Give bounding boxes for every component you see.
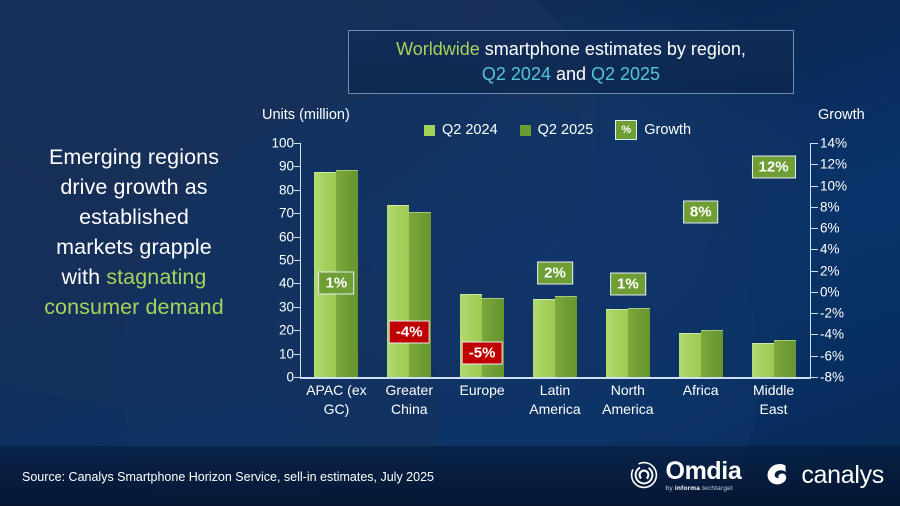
headline-line-5: with stagnating <box>8 262 260 292</box>
y2-axis-tick <box>811 292 818 293</box>
headline-line-1: Emerging regions <box>8 142 260 172</box>
bar-pair <box>519 143 592 377</box>
y2-axis-title: Growth <box>818 107 865 123</box>
x-axis-category-line: East <box>737 400 810 419</box>
growth-badge: -5% <box>462 342 503 365</box>
legend-label-growth: Growth <box>644 122 691 138</box>
legend-item-q2-2024: Q2 2024 <box>424 122 498 138</box>
bar-2024[interactable] <box>460 294 482 377</box>
chart-title-row-2: Q2 2024 and Q2 2025 <box>482 62 660 87</box>
y2-axis-tick-label: 14% <box>820 136 847 151</box>
growth-badge: 1% <box>319 272 355 295</box>
y2-axis-tick <box>811 356 818 357</box>
headline-line-4: markets grapple <box>8 232 260 262</box>
y2-axis-tick <box>811 228 818 229</box>
y-axis-tick-label: 0 <box>286 370 294 385</box>
canalys-name: canalys <box>801 461 884 490</box>
y-axis-tick-label: 30 <box>279 299 294 314</box>
chart-legend: Q2 2024 Q2 2025 % Growth <box>424 120 691 140</box>
bar-group: 1%APAC (exGC) <box>300 143 373 377</box>
y2-axis-tick-label: -8% <box>820 370 844 385</box>
x-axis-category-line: Middle <box>737 381 810 400</box>
headline-line-5-green: stagnating <box>106 265 206 289</box>
bar-2025[interactable] <box>409 212 431 377</box>
y2-axis-tick <box>811 207 818 208</box>
chart-title-and: and <box>551 64 591 84</box>
bar-group: 2%LatinAmerica <box>519 143 592 377</box>
growth-badge: 2% <box>537 262 573 285</box>
x-axis-category-label: GreaterChina <box>373 381 446 419</box>
legend-item-growth: % Growth <box>615 120 691 140</box>
y2-axis-tick-labels: 14%12%10%8%6%4%2%0%-2%-4%-6%-8% <box>820 143 870 378</box>
legend-swatch-2025-icon <box>520 125 531 136</box>
logo-row: Omdia by informa techtarget canalys <box>629 459 884 493</box>
headline-line-3: established <box>8 202 260 232</box>
canalys-logo: canalys <box>763 461 884 490</box>
x-axis-category-line: America <box>591 400 664 419</box>
canalys-mark-icon <box>763 462 793 488</box>
y2-axis-tick-label: 4% <box>820 242 840 257</box>
growth-badge: 12% <box>752 156 796 179</box>
legend-item-q2-2025: Q2 2025 <box>520 122 594 138</box>
bar-2024[interactable] <box>679 333 701 377</box>
y2-axis-tick-label: -2% <box>820 306 844 321</box>
y2-axis-tick <box>811 271 818 272</box>
bar-groups: 1%APAC (exGC)-4%GreaterChina-5%Europe2%L… <box>300 143 810 377</box>
y2-axis-tick <box>811 143 818 144</box>
x-axis-category-line: Europe <box>446 381 519 400</box>
y-axis-tick-label: 50 <box>279 253 294 268</box>
x-axis-category-label: MiddleEast <box>737 381 810 419</box>
y2-axis-tick <box>811 164 818 165</box>
y2-axis-tick-label: 2% <box>820 263 840 278</box>
x-axis-category-label: Africa <box>664 381 737 400</box>
bar-pair <box>664 143 737 377</box>
bar-2025[interactable] <box>628 308 650 377</box>
percent-badge-icon: % <box>615 120 637 140</box>
y2-axis-tick-label: 0% <box>820 284 840 299</box>
x-axis-category-line: Greater <box>373 381 446 400</box>
chart-title-row-1: Worldwide smartphone estimates by region… <box>396 37 746 62</box>
x-axis-category-line: APAC (ex <box>300 381 373 400</box>
y2-axis-tick <box>811 186 818 187</box>
y2-axis-tick-label: -4% <box>820 327 844 342</box>
growth-badge: 1% <box>610 273 646 296</box>
y-axis-tick-label: 20 <box>279 323 294 338</box>
headline-line-6: consumer demand <box>8 292 260 322</box>
chart-title-q2-2024: Q2 2024 <box>482 64 551 84</box>
omdia-logo: Omdia by informa techtarget <box>629 459 742 493</box>
y2-axis-tick <box>811 334 818 335</box>
y-axis-tick-label: 10 <box>279 346 294 361</box>
bar-group: -5%Europe <box>446 143 519 377</box>
y-axis-tick-label: 70 <box>279 206 294 221</box>
bar-2024[interactable] <box>752 343 774 377</box>
bar-2024[interactable] <box>533 299 555 377</box>
bar-group: 8%Africa <box>664 143 737 377</box>
legend-swatch-2024-icon <box>424 125 435 136</box>
bar-pair <box>300 143 373 377</box>
y-axis-tick-label: 90 <box>279 159 294 174</box>
chart-title-rest: smartphone estimates by region, <box>480 39 746 59</box>
x-axis-category-line: America <box>519 400 592 419</box>
slide-canvas: Emerging regions drive growth as establi… <box>0 0 900 506</box>
headline-line-5-white: with <box>62 265 107 289</box>
y2-axis-tick-label: -6% <box>820 348 844 363</box>
bar-2024[interactable] <box>387 205 409 377</box>
y-axis-tick-label: 60 <box>279 229 294 244</box>
x-axis-category-line: Africa <box>664 381 737 400</box>
x-axis-line <box>300 377 811 379</box>
x-axis-category-label: NorthAmerica <box>591 381 664 419</box>
x-axis-category-label: Europe <box>446 381 519 400</box>
legend-label-2025: Q2 2025 <box>538 122 594 138</box>
y2-axis-tick <box>811 249 818 250</box>
chart-title-box: Worldwide smartphone estimates by region… <box>348 30 794 94</box>
source-note: Source: Canalys Smartphone Horizon Servi… <box>22 470 434 484</box>
omdia-wordmark: Omdia by informa techtarget <box>666 459 742 493</box>
y-axis-title: Units (million) <box>262 107 350 123</box>
y2-axis-tick <box>811 313 818 314</box>
bar-2025[interactable] <box>555 296 577 377</box>
omdia-sub-informa: informa <box>675 485 700 492</box>
headline-text: Emerging regions drive growth as establi… <box>8 142 260 322</box>
y2-axis-ticks <box>811 143 818 378</box>
y2-axis-tick-label: 8% <box>820 199 840 214</box>
x-axis-category-label: APAC (exGC) <box>300 381 373 419</box>
y2-axis-tick-label: 12% <box>820 157 847 172</box>
x-axis-category-line: Latin <box>519 381 592 400</box>
omdia-name: Omdia <box>666 459 742 484</box>
omdia-sub-by: by <box>666 485 675 492</box>
growth-badge: -4% <box>389 321 430 344</box>
omdia-subtitle: by informa techtarget <box>666 486 742 493</box>
y-axis-tick-label: 100 <box>271 136 294 151</box>
x-axis-category-line: North <box>591 381 664 400</box>
bar-2025[interactable] <box>701 330 723 377</box>
bar-group: 1%NorthAmerica <box>591 143 664 377</box>
x-axis-category-label: LatinAmerica <box>519 381 592 419</box>
headline-line-2: drive growth as <box>8 172 260 202</box>
omdia-mark-icon <box>629 460 659 490</box>
y-axis-tick <box>294 377 301 378</box>
y2-axis-tick <box>811 377 818 378</box>
omdia-sub-tail: techtarget <box>700 485 733 492</box>
legend-label-2024: Q2 2024 <box>442 122 498 138</box>
y-axis-tick-label: 80 <box>279 182 294 197</box>
x-axis-category-line: GC) <box>300 400 373 419</box>
bar-2025[interactable] <box>482 298 504 377</box>
bar-2025[interactable] <box>774 340 796 377</box>
y-axis-tick-label: 40 <box>279 276 294 291</box>
bar-group: 12%MiddleEast <box>737 143 810 377</box>
chart-title-q2-2025: Q2 2025 <box>591 64 660 84</box>
footer-bar: Source: Canalys Smartphone Horizon Servi… <box>0 446 900 506</box>
bar-2024[interactable] <box>606 309 628 377</box>
x-axis-category-line: China <box>373 400 446 419</box>
y2-axis-tick-label: 6% <box>820 221 840 236</box>
growth-badge: 8% <box>683 201 719 224</box>
bar-group: -4%GreaterChina <box>373 143 446 377</box>
y-axis-tick-labels: 1009080706050403020100 <box>258 143 294 378</box>
y2-axis-tick-label: 10% <box>820 178 847 193</box>
chart-title-worldwide: Worldwide <box>396 39 480 59</box>
bar-pair <box>591 143 664 377</box>
